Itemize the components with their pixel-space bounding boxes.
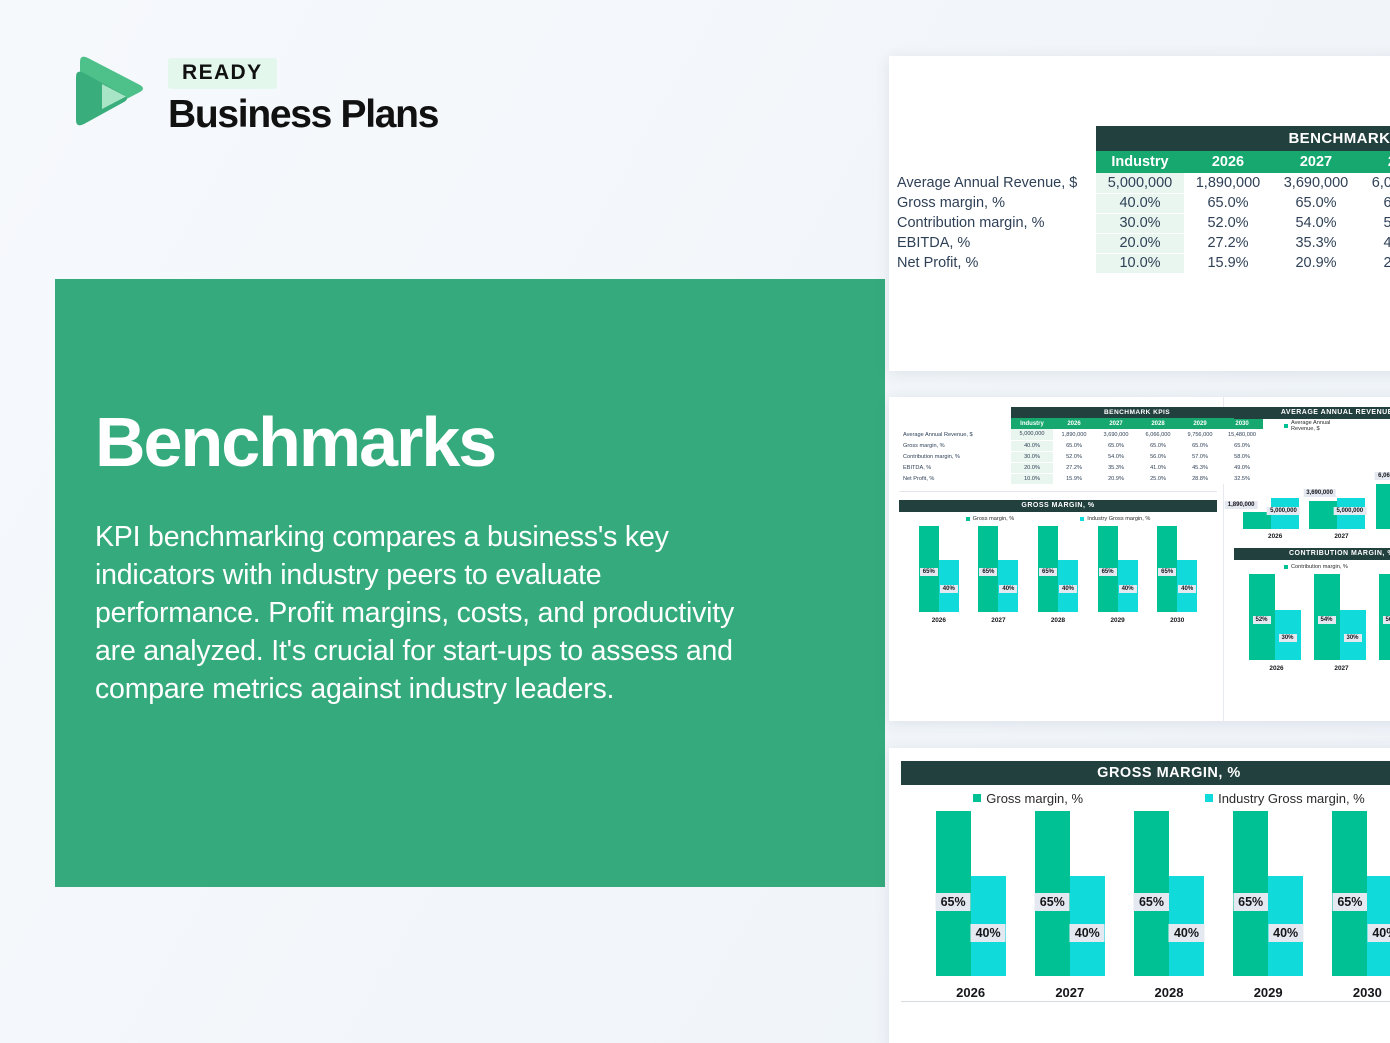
x-tick-label: 2026 (936, 985, 1006, 1000)
legend-item-gross-margin: Gross margin, % (973, 791, 1083, 806)
table-row: Average Annual Revenue, $ 5,000,000 1,89… (899, 429, 1263, 440)
chart-legend: Gross margin, % Industry Gross margin, % (899, 512, 1217, 526)
x-tick-label: 2028 (1376, 533, 1390, 540)
bar-group: 3,690,000 5,000,000 (1309, 498, 1373, 529)
bar-group: 65% 40% (1035, 811, 1105, 976)
brand-logo[interactable]: READY Business Plans (62, 52, 438, 140)
chart-plot-area: 1,890,000 5,000,000 3,690,000 5,000,000 … (1234, 433, 1390, 529)
legend-label: Industry Gross margin, % (1087, 516, 1150, 522)
col-header-2026: 2026 (1184, 151, 1272, 173)
cell-industry: 20.0% (1011, 462, 1053, 473)
col-header-2027: 2027 (1272, 151, 1360, 173)
cell-2027: 54.0% (1095, 451, 1137, 462)
divider (899, 491, 1217, 492)
row-label: EBITDA, % (889, 233, 1096, 253)
row-label: Net Profit, % (899, 473, 1011, 484)
bar-gross-margin: 65% (1038, 526, 1058, 612)
bar-value-label: 40% (1119, 585, 1137, 593)
cell-2028: 65.0% (1137, 440, 1179, 451)
bar-industry-contribution-margin: 30% (1340, 610, 1366, 660)
col-header-industry: Industry (1011, 418, 1053, 429)
bar-value-label: 40% (1178, 585, 1196, 593)
mid-left-column: BENCHMARK KPIS Industry 2026 2027 2028 2… (889, 397, 1224, 721)
bar-value-label: 30% (1343, 634, 1361, 642)
chart-plot-area: 65% 40% 65% 40% 65% 40% 65% 40% 65% 40% (901, 811, 1390, 976)
bar-value-label: 65% (1332, 893, 1367, 911)
bar-industry-gross-margin: 40% (1268, 876, 1303, 976)
bar-value-label: 40% (971, 924, 1006, 942)
legend-swatch-icon (1284, 424, 1288, 428)
bar-group: 65% 40% (1157, 526, 1197, 612)
bar-gross-margin: 65% (1233, 811, 1268, 976)
cell-2026: 1,890,000 (1184, 173, 1272, 193)
cell-2027: 65.0% (1095, 440, 1137, 451)
legend-swatch-icon (966, 517, 970, 521)
cell-2027: 35.3% (1095, 462, 1137, 473)
bar-value-label: 65% (1233, 893, 1268, 911)
cell-industry: 5,000,000 (1096, 173, 1184, 193)
legend-label: Contribution margin, % (1291, 564, 1348, 570)
bar-gross-margin: 65% (978, 526, 998, 612)
bar-value-label: 40% (1059, 585, 1077, 593)
legend-item-industry-gross-margin: Industry Gross margin, % (1205, 791, 1365, 806)
cell-2027: 54.0% (1272, 213, 1360, 233)
bar-group: 65% 40% (919, 526, 959, 612)
bar-gross-margin: 65% (1157, 526, 1177, 612)
legend-item-contribution-margin: Contribution margin, % (1284, 564, 1348, 570)
bar-industry-revenue: 5,000,000 (1337, 498, 1365, 529)
cell-2028: 25.0% (1137, 473, 1179, 484)
row-label: Net Profit, % (889, 253, 1096, 273)
chart-plot-area: 52% 30% 54% 30% 56% 30% (1234, 574, 1390, 660)
hero-description: KPI benchmarking compares a business's k… (95, 519, 755, 708)
bar-industry-gross-margin: 40% (1118, 560, 1138, 612)
bar-industry-gross-margin: 40% (998, 560, 1018, 612)
bar-group: 65% 40% (1233, 811, 1303, 976)
cell-2028: 41.0% (1137, 462, 1179, 473)
col-header-2029: 2029 (1179, 418, 1221, 429)
bar-value-label: 65% (1039, 568, 1057, 576)
row-label: Gross margin, % (899, 440, 1011, 451)
table-row: Net Profit, % 10.0% 15.9% 20.9% 25.0% 28… (899, 473, 1263, 484)
table-row: EBITDA, % 20.0% 27.2% 35.3% 41.0% 45.3% … (889, 233, 1390, 253)
bar-value-label: 5,000,000 (1333, 507, 1366, 515)
page-title: Benchmarks (95, 407, 793, 477)
bar-value-label: 65% (920, 568, 938, 576)
bar-gross-margin: 65% (1098, 526, 1118, 612)
legend-label: Average Annual Revenue, $ (1291, 420, 1346, 432)
cell-2029: 28.8% (1179, 473, 1221, 484)
chart-title: GROSS MARGIN, % (901, 761, 1390, 785)
x-tick-label: 2026 (919, 617, 959, 624)
bar-value-label: 65% (979, 568, 997, 576)
cell-2026: 65.0% (1053, 440, 1095, 451)
cell-2026: 52.0% (1184, 213, 1272, 233)
table-title-row: BENCHMARK KPIS (889, 126, 1390, 151)
bar-industry-gross-margin: 40% (971, 876, 1006, 976)
cell-2028: 6,066,000 (1137, 429, 1179, 440)
col-header-2027: 2027 (1095, 418, 1137, 429)
bar-gross-margin: 65% (1134, 811, 1169, 976)
cell-2028: 41.0% (1360, 233, 1390, 253)
row-label: Contribution margin, % (899, 451, 1011, 462)
bar-value-label: 6,066,000 (1375, 472, 1390, 480)
cell-2027: 65.0% (1272, 193, 1360, 213)
cell-2028: 65.0% (1360, 193, 1390, 213)
mid-right-column: AVERAGE ANNUAL REVENUE, $ Average Annual… (1224, 397, 1390, 721)
brand-wordmark: READY Business Plans (168, 56, 438, 135)
cell-2026: 65.0% (1184, 193, 1272, 213)
cell-2027: 3,690,000 (1272, 173, 1360, 193)
legend-swatch-icon (973, 794, 981, 802)
bar-contribution-margin: 54% (1314, 574, 1340, 660)
benchmark-kpis-table: BENCHMARK KPIS Industry 2026 2027 2028 2… (889, 126, 1390, 274)
cell-2026: 15.9% (1184, 253, 1272, 273)
bar-industry-gross-margin: 40% (1177, 560, 1197, 612)
table-row: Average Annual Revenue, $ 5,000,000 1,89… (889, 173, 1390, 193)
bar-contribution-margin: 52% (1249, 574, 1275, 660)
cell-2026: 52.0% (1053, 451, 1095, 462)
x-tick-label: 2028 (1134, 985, 1204, 1000)
x-tick-label: 2026 (1249, 665, 1305, 672)
bar-gross-margin: 65% (1332, 811, 1367, 976)
bar-group: 65% 40% (978, 526, 1018, 612)
bar-value-label: 40% (1169, 924, 1204, 942)
x-tick-label: 2029 (1098, 617, 1138, 624)
bar-group: 65% 40% (1332, 811, 1390, 976)
bar-value-label: 40% (1268, 924, 1303, 942)
bar-value-label: 65% (936, 893, 971, 911)
cell-2026: 15.9% (1053, 473, 1095, 484)
chart-x-axis: 2026 2027 2028 2029 2030 (899, 612, 1217, 624)
cell-2028: 6,066,000 (1360, 173, 1390, 193)
bar-group: 6,066,000 (1376, 484, 1390, 529)
bar-value-label: 40% (1070, 924, 1105, 942)
bar-industry-gross-margin: 40% (1070, 876, 1105, 976)
row-label: Average Annual Revenue, $ (899, 429, 1011, 440)
cell-2026: 27.2% (1053, 462, 1095, 473)
table-row: Gross margin, % 40.0% 65.0% 65.0% 65.0% … (899, 440, 1263, 451)
legend-item-average-annual-revenue: Average Annual Revenue, $ (1284, 420, 1346, 432)
bar-group: 65% 40% (1038, 526, 1078, 612)
x-tick-label: 2026 (1243, 533, 1307, 540)
row-label: EBITDA, % (899, 462, 1011, 473)
chart-x-axis: 2026 2027 2028 (1234, 529, 1390, 540)
bar-value-label: 65% (1035, 893, 1070, 911)
cell-2026: 1,890,000 (1053, 429, 1095, 440)
cell-2027: 35.3% (1272, 233, 1360, 253)
benchmark-kpis-table-mini: BENCHMARK KPIS Industry 2026 2027 2028 2… (899, 407, 1263, 485)
table-row: Gross margin, % 40.0% 65.0% 65.0% 65.0% … (889, 193, 1390, 213)
bar-value-label: 65% (1134, 893, 1169, 911)
gross-margin-chart-mini: GROSS MARGIN, % Gross margin, % Industry… (899, 500, 1217, 624)
table-row: Net Profit, % 10.0% 15.9% 20.9% 25.0% 28… (889, 253, 1390, 273)
cell-2027: 20.9% (1272, 253, 1360, 273)
legend-label: Gross margin, % (986, 791, 1083, 806)
legend-label: Industry Gross margin, % (1218, 791, 1365, 806)
table-header-row: Industry 2026 2027 2028 2029 2030 (899, 418, 1263, 429)
bar-industry-gross-margin: 40% (1169, 876, 1204, 976)
bar-value-label: 52% (1252, 616, 1270, 624)
chart-legend: Gross margin, % Industry Gross margin, % (901, 785, 1390, 811)
cell-industry: 20.0% (1096, 233, 1184, 253)
chart-axis-line (901, 1001, 1390, 1002)
bar-value-label: 40% (1367, 924, 1390, 942)
gross-margin-chart: GROSS MARGIN, % Gross margin, % Industry… (889, 748, 1390, 1002)
bar-industry-gross-margin: 40% (939, 560, 959, 612)
bar-value-label: 40% (999, 585, 1017, 593)
cell-industry: 40.0% (1011, 440, 1053, 451)
x-tick-label: 2027 (978, 617, 1018, 624)
bar-value-label: 3,690,000 (1303, 489, 1336, 497)
x-tick-label: 2027 (1314, 665, 1370, 672)
hero-panel: Benchmarks KPI benchmarking compares a b… (55, 279, 885, 887)
legend-label: Gross margin, % (973, 516, 1015, 522)
row-label: Contribution margin, % (889, 213, 1096, 233)
x-tick-label: 2029 (1233, 985, 1303, 1000)
average-annual-revenue-chart: AVERAGE ANNUAL REVENUE, $ Average Annual… (1234, 407, 1390, 540)
bar-group: 65% 40% (1098, 526, 1138, 612)
cell-industry: 5,000,000 (1011, 429, 1053, 440)
x-tick-label: 2028 (1379, 665, 1390, 672)
bar-contribution-margin: 56% (1379, 574, 1390, 660)
chart-legend: Contribution margin, % (1234, 560, 1390, 574)
bar-value-label: 5,000,000 (1267, 507, 1300, 515)
bar-value-label: 54% (1317, 616, 1335, 624)
bar-industry-gross-margin: 40% (1367, 876, 1390, 976)
bar-value-label: 40% (940, 585, 958, 593)
bar-group: 54% 30% (1314, 574, 1370, 660)
cell-2029: 65.0% (1179, 440, 1221, 451)
cell-industry: 30.0% (1096, 213, 1184, 233)
row-label: Gross margin, % (889, 193, 1096, 213)
row-label: Average Annual Revenue, $ (889, 173, 1096, 193)
x-tick-label: 2027 (1309, 533, 1373, 540)
cell-industry: 10.0% (1096, 253, 1184, 273)
bar-value-label: 65% (1099, 568, 1117, 576)
legend-swatch-icon (1080, 517, 1084, 521)
col-header-2028: 2028 (1360, 151, 1390, 173)
x-tick-label: 2028 (1038, 617, 1078, 624)
bar-gross-margin: 65% (919, 526, 939, 612)
chart-title: CONTRIBUTION MARGIN, % (1234, 548, 1390, 560)
table-header-row: Industry 2026 2027 2028 2029 2030 (889, 151, 1390, 173)
col-header-2026: 2026 (1053, 418, 1095, 429)
chart-legend: Average Annual Revenue, $ (1234, 419, 1390, 433)
table-title-row: BENCHMARK KPIS (899, 407, 1263, 418)
chart-title: GROSS MARGIN, % (899, 500, 1217, 512)
legend-item-industry-gross-margin: Industry Gross margin, % (1080, 516, 1150, 522)
bar-value-label: 30% (1278, 634, 1296, 642)
cell-2029: 45.3% (1179, 462, 1221, 473)
cell-2029: 9,756,000 (1179, 429, 1221, 440)
gross-margin-card: GROSS MARGIN, % Gross margin, % Industry… (889, 748, 1390, 1043)
cell-industry: 30.0% (1011, 451, 1053, 462)
bar-industry-revenue: 5,000,000 (1271, 498, 1299, 529)
bar-group: 65% 40% (1134, 811, 1204, 976)
cell-2027: 20.9% (1095, 473, 1137, 484)
bar-revenue: 6,066,000 (1376, 484, 1390, 529)
bar-gross-margin: 65% (1035, 811, 1070, 976)
bar-value-label: 1,890,000 (1225, 501, 1258, 509)
bar-revenue: 3,690,000 (1309, 501, 1337, 529)
cell-2027: 3,690,000 (1095, 429, 1137, 440)
col-header-industry: Industry (1096, 151, 1184, 173)
benchmark-kpis-card: BENCHMARK KPIS Industry 2026 2027 2028 2… (889, 56, 1390, 371)
x-tick-label: 2030 (1332, 985, 1390, 1000)
bar-group: 65% 40% (936, 811, 1006, 976)
contribution-margin-chart: CONTRIBUTION MARGIN, % Contribution marg… (1234, 548, 1390, 672)
bar-gross-margin: 65% (936, 811, 971, 976)
table-title: BENCHMARK KPIS (1096, 126, 1390, 151)
cell-2026: 27.2% (1184, 233, 1272, 253)
cell-industry: 40.0% (1096, 193, 1184, 213)
x-tick-label: 2027 (1035, 985, 1105, 1000)
chart-title: AVERAGE ANNUAL REVENUE, $ (1234, 407, 1390, 419)
brand-badge: READY (168, 58, 277, 88)
bar-industry-contribution-margin: 30% (1275, 610, 1301, 660)
legend-swatch-icon (1284, 565, 1288, 569)
legend-item-gross-margin: Gross margin, % (966, 516, 1015, 522)
brand-name: Business Plans (168, 95, 438, 136)
bar-industry-gross-margin: 40% (1058, 560, 1078, 612)
bar-group: 56% 30% (1379, 574, 1390, 660)
table-row: EBITDA, % 20.0% 27.2% 35.3% 41.0% 45.3% … (899, 462, 1263, 473)
legend-swatch-icon (1205, 794, 1213, 802)
table-row: Contribution margin, % 30.0% 52.0% 54.0%… (889, 213, 1390, 233)
col-header-2028: 2028 (1137, 418, 1179, 429)
chart-x-axis: 2026 2027 2028 (1234, 660, 1390, 672)
cell-2029: 57.0% (1179, 451, 1221, 462)
cell-2028: 56.0% (1137, 451, 1179, 462)
x-tick-label: 2030 (1157, 617, 1197, 624)
cell-industry: 10.0% (1011, 473, 1053, 484)
chart-plot-area: 65% 40% 65% 40% 65% 40% 65% 40% (899, 526, 1217, 612)
bar-group: 1,890,000 5,000,000 (1243, 498, 1307, 529)
chart-x-axis: 2026 2027 2028 2029 2030 (901, 976, 1390, 1000)
bar-value-label: 56% (1382, 616, 1390, 624)
cell-2028: 56.0% (1360, 213, 1390, 233)
table-row: Contribution margin, % 30.0% 52.0% 54.0%… (899, 451, 1263, 462)
bar-group: 52% 30% (1249, 574, 1305, 660)
dashboard-overview-card: BENCHMARK KPIS Industry 2026 2027 2028 2… (889, 397, 1390, 721)
cell-2028: 25.0% (1360, 253, 1390, 273)
play-triangle-logo-icon (62, 52, 146, 140)
bar-value-label: 65% (1158, 568, 1176, 576)
